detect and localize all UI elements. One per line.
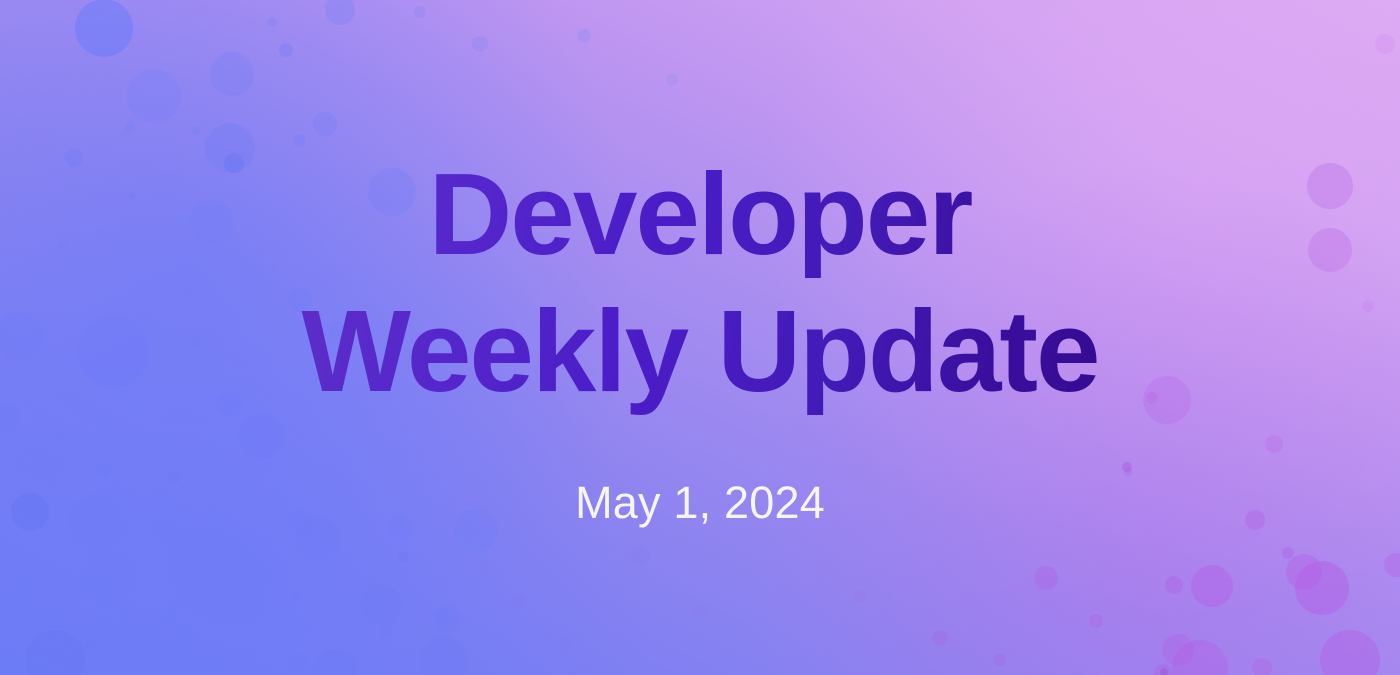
issue-date: May 1, 2024 [575, 477, 825, 529]
page-title: Developer Weekly Update [301, 146, 1098, 420]
page-title-line-2: Weekly Update [301, 283, 1098, 420]
page-title-line-1: Developer [301, 146, 1098, 283]
banner-content: Developer Weekly Update May 1, 2024 [0, 0, 1400, 675]
developer-weekly-update-banner: Developer Weekly Update May 1, 2024 [0, 0, 1400, 675]
